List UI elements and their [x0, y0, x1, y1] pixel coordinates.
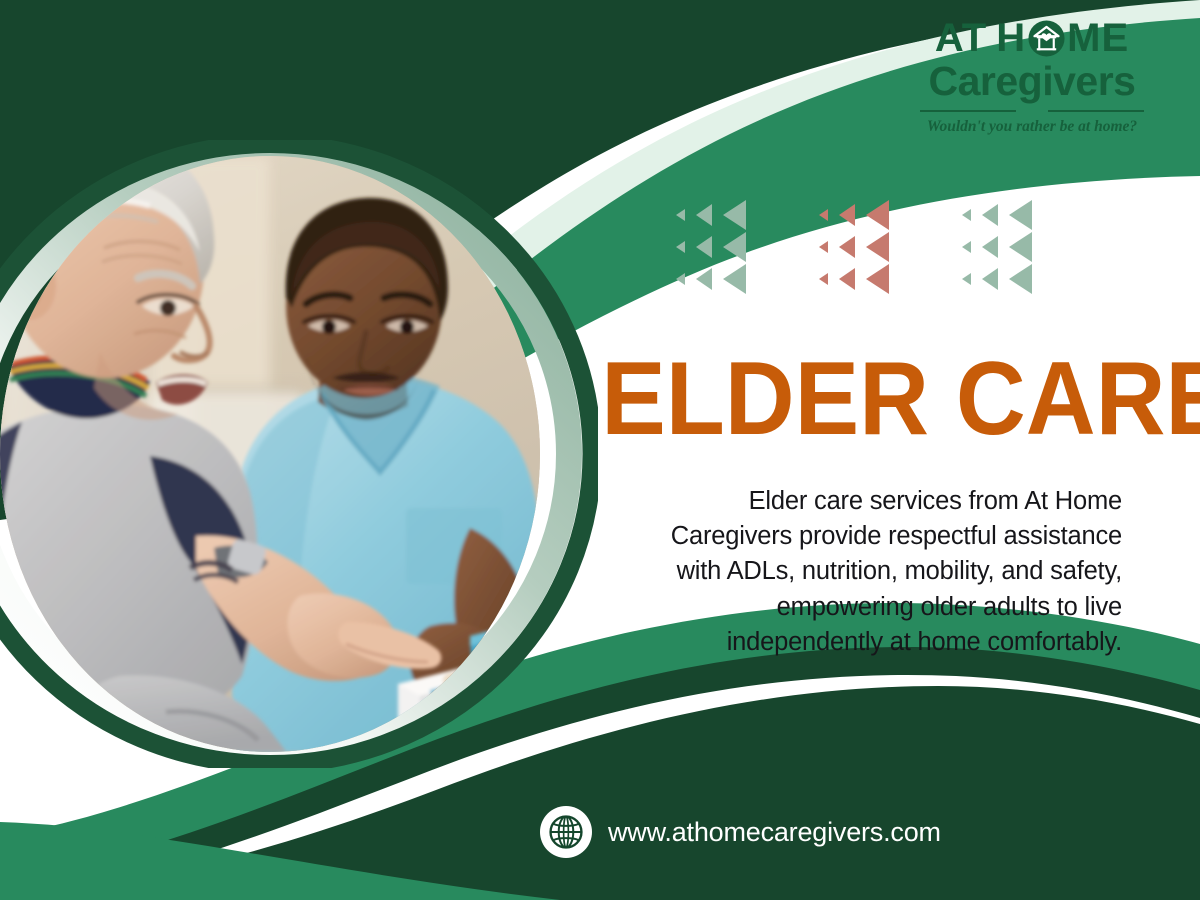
triangle-large-icon	[866, 232, 889, 262]
logo-word-h: H	[996, 18, 1026, 58]
triangle-decoration-row	[676, 204, 1076, 286]
triangle-row	[819, 204, 889, 226]
triangle-large-icon	[866, 200, 889, 230]
triangle-medium-icon	[982, 268, 998, 290]
triangle-group-green-left	[676, 204, 746, 286]
triangle-large-icon	[866, 264, 889, 294]
house-heart-icon	[1028, 20, 1065, 57]
logo-divider	[916, 105, 1148, 117]
triangle-small-icon	[819, 241, 828, 253]
logo-divider-right	[1048, 110, 1144, 112]
triangle-small-icon	[819, 273, 828, 285]
triangle-large-icon	[723, 200, 746, 230]
triangle-group-red	[819, 204, 889, 286]
triangle-row	[962, 236, 1032, 258]
triangle-large-icon	[1009, 200, 1032, 230]
triangle-large-icon	[1009, 232, 1032, 262]
globe-icon	[540, 806, 592, 858]
photo-illustration	[0, 156, 540, 752]
triangle-medium-icon	[696, 204, 712, 226]
logo-word-at: AT	[935, 18, 987, 58]
triangle-row	[676, 268, 746, 290]
triangle-large-icon	[1009, 264, 1032, 294]
triangle-medium-icon	[839, 236, 855, 258]
triangle-row	[676, 236, 746, 258]
triangle-medium-icon	[982, 204, 998, 226]
triangle-small-icon	[819, 209, 828, 221]
logo-word-me: ME	[1067, 18, 1129, 58]
triangle-medium-icon	[696, 236, 712, 258]
photo-medallion	[0, 140, 598, 768]
triangle-medium-icon	[839, 268, 855, 290]
triangle-medium-icon	[982, 236, 998, 258]
triangle-small-icon	[676, 273, 685, 285]
triangle-row	[676, 204, 746, 226]
triangle-large-icon	[723, 264, 746, 294]
logo-divider-left	[920, 110, 1016, 112]
logo-wordmark-line1: AT H ME	[916, 18, 1148, 58]
triangle-small-icon	[962, 273, 971, 285]
triangle-row	[962, 204, 1032, 226]
triangle-medium-icon	[839, 204, 855, 226]
body-description: Elder care services from At Home Caregiv…	[652, 484, 1122, 660]
logo-tagline: Wouldn't you rather be at home?	[916, 118, 1148, 135]
triangle-row	[819, 268, 889, 290]
brand-logo[interactable]: AT H ME Caregivers Wouldn't you rather b…	[916, 18, 1148, 135]
triangle-group-green-right	[962, 204, 1032, 286]
footer-website[interactable]: www.athomecaregivers.com	[540, 806, 941, 858]
triangle-small-icon	[676, 241, 685, 253]
triangle-row	[819, 236, 889, 258]
triangle-row	[962, 268, 1032, 290]
triangle-large-icon	[723, 232, 746, 262]
triangle-small-icon	[962, 209, 971, 221]
logo-wordmark-line2: Caregivers	[916, 60, 1148, 103]
poster-canvas: AT H ME Caregivers Wouldn't you rather b…	[0, 0, 1200, 900]
website-url-text: www.athomecaregivers.com	[608, 817, 941, 848]
photo-frame	[0, 156, 540, 752]
page-title: ELDER CARE	[601, 352, 1122, 448]
triangle-medium-icon	[696, 268, 712, 290]
triangle-small-icon	[962, 241, 971, 253]
triangle-small-icon	[676, 209, 685, 221]
